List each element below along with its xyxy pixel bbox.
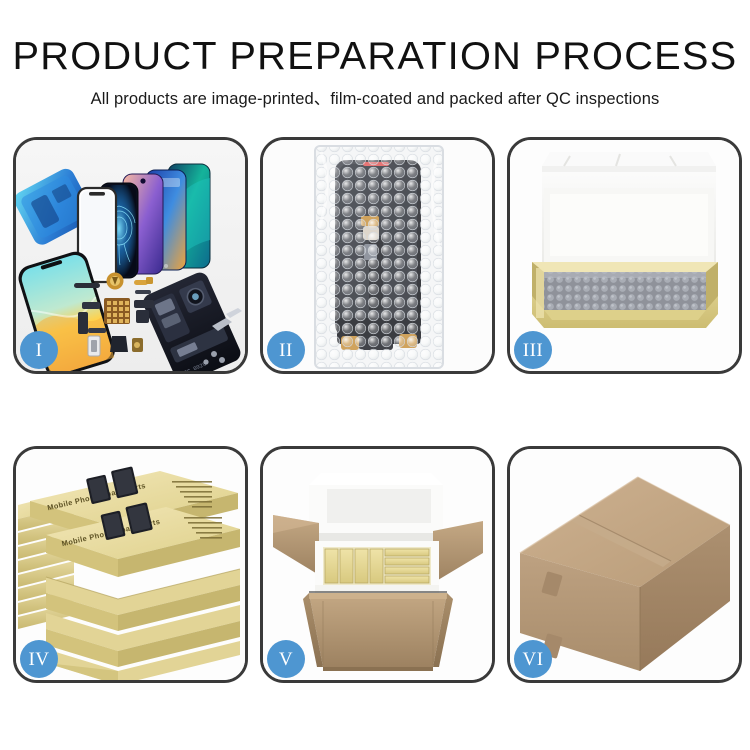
page-subtitle: All products are image-printed、film-coat…	[0, 89, 750, 109]
step-badge-5: V	[267, 640, 305, 678]
step-panel-3: III	[507, 137, 742, 374]
step-badge-1: I	[20, 331, 58, 369]
header: PRODUCT PREPARATION PROCESS All products…	[0, 0, 750, 109]
page-title: PRODUCT PREPARATION PROCESS	[0, 34, 750, 80]
step-panel-4: Mobile Phone Spare Parts	[13, 446, 248, 683]
process-step-grid: IC 0925	[13, 137, 737, 687]
step-panel-6: VI	[507, 446, 742, 683]
step-panel-1: IC 0925	[13, 137, 248, 374]
step-badge-4: IV	[20, 640, 58, 678]
step-panel-2: II	[260, 137, 495, 374]
product-preparation-infographic: PRODUCT PREPARATION PROCESS All products…	[0, 0, 750, 750]
step-badge-6: VI	[514, 640, 552, 678]
step-badge-2: II	[267, 331, 305, 369]
step-badge-3: III	[514, 331, 552, 369]
step-panel-5: V	[260, 446, 495, 683]
